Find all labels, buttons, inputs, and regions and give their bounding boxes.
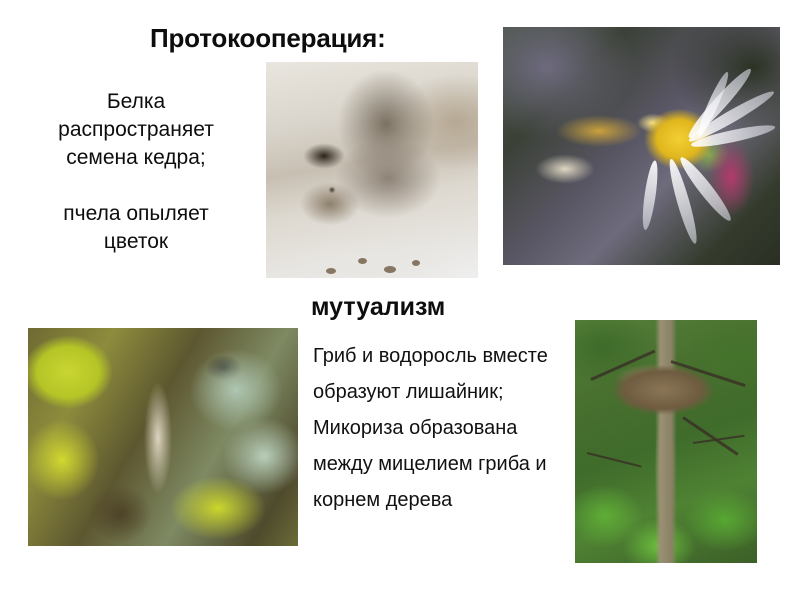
left-text-line-2: распространяет <box>20 116 252 144</box>
left-text-spacer <box>20 172 252 200</box>
left-text-line-4: пчела опыляет <box>20 200 252 228</box>
presentation-slide: Протокооперация: Белка распространяет се… <box>0 0 800 600</box>
lichen-on-bark-photo <box>28 328 298 546</box>
left-text-block: Белка распространяет семена кедра; пчела… <box>20 88 252 256</box>
boletus-mushroom-in-moss-photo <box>575 320 757 563</box>
mutualism-paragraph-1: Гриб и водоросль вместе образуют лишайни… <box>313 338 561 410</box>
mutualism-paragraph-2: Микориза образована между мицелием гриба… <box>313 410 561 518</box>
bee-pollinating-flower-photo <box>503 27 780 265</box>
page-title: Протокооперация: <box>150 24 386 53</box>
squirrel-eating-cedar-seeds-photo <box>266 62 478 278</box>
left-text-line-3: семена кедра; <box>20 144 252 172</box>
left-text-line-5: цветок <box>20 228 252 256</box>
mutualism-heading: мутуализм <box>311 294 445 322</box>
left-text-line-1: Белка <box>20 88 252 116</box>
mutualism-body-text: Гриб и водоросль вместе образуют лишайни… <box>313 338 561 518</box>
